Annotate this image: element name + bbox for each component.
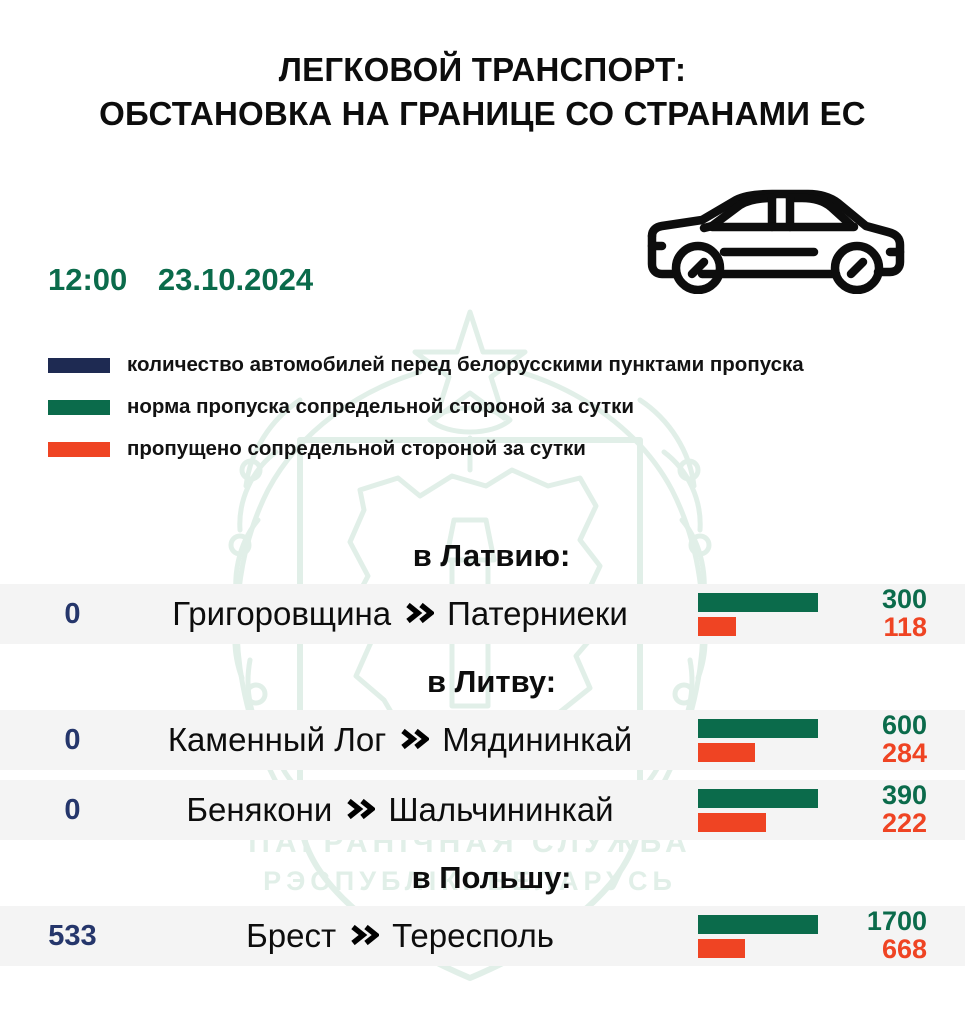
- value-passed: 118: [883, 614, 927, 642]
- legend-swatch-passed: [48, 442, 110, 457]
- timestamp-time: 12:00: [48, 262, 127, 297]
- legend-label-queue: количество автомобилей перед белорусским…: [127, 353, 804, 377]
- bar-norm: [698, 915, 818, 934]
- legend-item-passed: пропущено сопредельной стороной за сутки: [48, 428, 948, 470]
- values: 1700 668: [845, 906, 927, 966]
- value-passed: 222: [882, 810, 927, 838]
- bars: [698, 906, 848, 966]
- section-header-latvia: в Латвию:: [0, 528, 965, 584]
- route: Григоровщина Патерниеки: [110, 584, 690, 644]
- route-to: Тересполь: [392, 917, 554, 955]
- double-chevron-right-icon: [404, 600, 434, 626]
- page-title: ЛЕГКОВОЙ ТРАНСПОРТ: ОБСТАНОВКА НА ГРАНИЦ…: [0, 48, 965, 135]
- page-title-line-1: ЛЕГКОВОЙ ТРАНСПОРТ:: [0, 48, 965, 92]
- bars: [698, 584, 848, 644]
- section-header-lithuania: в Литву:: [0, 654, 965, 710]
- table-row: 0 Бенякони Шальчининкай 390: [0, 780, 965, 840]
- double-chevron-right-icon: [345, 796, 375, 822]
- route: Брест Тересполь: [110, 906, 690, 966]
- values: 300 118: [845, 584, 927, 644]
- bar-passed: [698, 939, 745, 958]
- value-norm: 1700: [867, 908, 927, 936]
- section-latvia: в Латвию: 0 Григоровщина Патерниеки: [0, 528, 965, 644]
- timestamp-date: 23.10.2024: [158, 262, 313, 297]
- bar-norm: [698, 719, 818, 738]
- route: Каменный Лог Мядининкай: [110, 710, 690, 770]
- route-from: Каменный Лог: [168, 721, 386, 759]
- legend-item-queue: количество автомобилей перед белорусским…: [48, 344, 948, 386]
- bar-norm: [698, 593, 818, 612]
- table-row: 0 Григоровщина Патерниеки 3: [0, 584, 965, 644]
- route-to: Мядининкай: [442, 721, 632, 759]
- legend: количество автомобилей перед белорусским…: [48, 344, 948, 470]
- legend-label-norm: норма пропуска сопредельной стороной за …: [127, 395, 634, 419]
- value-passed: 668: [882, 936, 927, 964]
- route-from: Бенякони: [186, 791, 332, 829]
- section-header-poland: в Польшу:: [0, 850, 965, 906]
- legend-label-passed: пропущено сопредельной стороной за сутки: [127, 437, 586, 461]
- bar-passed: [698, 743, 755, 762]
- border-crossings-table: в Латвию: 0 Григоровщина Патерниеки: [0, 528, 965, 976]
- value-norm: 390: [882, 782, 927, 810]
- value-passed: 284: [882, 740, 927, 768]
- section-poland: в Польшу: 533 Брест Тересполь: [0, 850, 965, 966]
- page-title-line-2: ОБСТАНОВКА НА ГРАНИЦЕ СО СТРАНАМИ ЕС: [0, 92, 965, 136]
- route-from: Григоровщина: [172, 595, 391, 633]
- bar-passed: [698, 813, 766, 832]
- section-lithuania: в Литву: 0 Каменный Лог Мядининкай: [0, 654, 965, 840]
- table-row: 533 Брест Тересполь 1700: [0, 906, 965, 966]
- legend-item-norm: норма пропуска сопредельной стороной за …: [48, 386, 948, 428]
- legend-swatch-queue: [48, 358, 110, 373]
- timestamp: 12:00 23.10.2024: [48, 262, 313, 298]
- bar-norm: [698, 789, 818, 808]
- value-norm: 300: [882, 586, 927, 614]
- bars: [698, 780, 848, 840]
- bars: [698, 710, 848, 770]
- route-to: Шальчининкай: [388, 791, 613, 829]
- route-to: Патерниеки: [447, 595, 628, 633]
- double-chevron-right-icon: [349, 922, 379, 948]
- legend-swatch-norm: [48, 400, 110, 415]
- route: Бенякони Шальчининкай: [110, 780, 690, 840]
- values: 600 284: [845, 710, 927, 770]
- values: 390 222: [845, 780, 927, 840]
- double-chevron-right-icon: [399, 726, 429, 752]
- bar-passed: [698, 617, 736, 636]
- table-row: 0 Каменный Лог Мядининкай 6: [0, 710, 965, 770]
- car-icon: [640, 186, 910, 294]
- route-from: Брест: [246, 917, 336, 955]
- value-norm: 600: [882, 712, 927, 740]
